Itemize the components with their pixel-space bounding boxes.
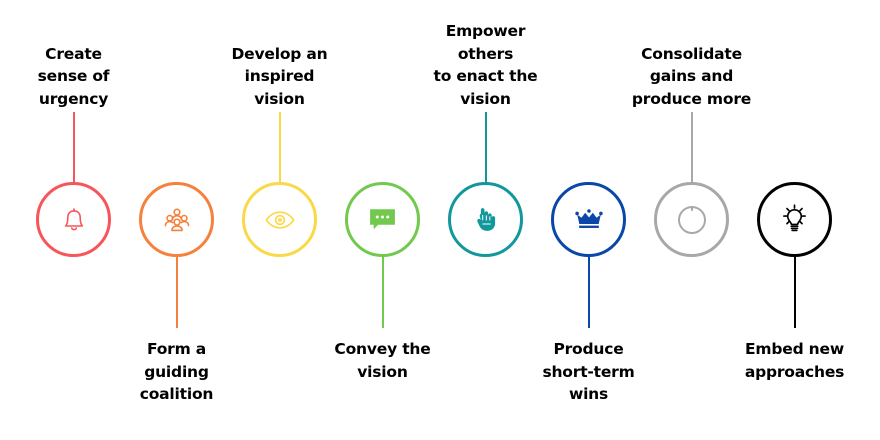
connector-line	[279, 112, 281, 184]
step-circle[interactable]	[36, 182, 111, 257]
lightbulb-icon	[777, 202, 813, 238]
ring-circle-icon	[674, 202, 710, 238]
step-circle[interactable]	[551, 182, 626, 257]
step-label: Form a guiding coalition	[109, 338, 244, 406]
step-label: Consolidate gains and produce more	[624, 43, 759, 111]
connector-line	[382, 256, 384, 328]
step-label: Produce short-term wins	[521, 338, 656, 406]
eye-icon	[262, 202, 298, 238]
speech-bubble-icon	[365, 202, 401, 238]
step-label: Empower others to enact the vision	[418, 20, 553, 110]
raised-fist-icon	[468, 202, 504, 238]
step-label: Develop an inspired vision	[212, 43, 347, 111]
step-label: Convey the vision	[315, 338, 450, 383]
step-circle[interactable]	[139, 182, 214, 257]
connector-line	[485, 112, 487, 184]
connector-line	[691, 112, 693, 184]
step-label: Embed new approaches	[727, 338, 862, 383]
step-circle[interactable]	[345, 182, 420, 257]
connector-line	[176, 256, 178, 328]
step-circle[interactable]	[448, 182, 523, 257]
connector-line	[794, 256, 796, 328]
crown-icon	[571, 202, 607, 238]
step-circle[interactable]	[242, 182, 317, 257]
connector-line	[73, 112, 75, 184]
connector-line	[588, 256, 590, 328]
step-circle[interactable]	[757, 182, 832, 257]
step-circle[interactable]	[654, 182, 729, 257]
people-group-icon	[159, 202, 195, 238]
bell-icon	[56, 202, 92, 238]
step-label: Create sense of urgency	[6, 43, 141, 111]
change-model-diagram: Create sense of urgencyForm a guiding co…	[0, 0, 880, 440]
step-8[interactable]: Embed new approaches	[743, 0, 846, 440]
